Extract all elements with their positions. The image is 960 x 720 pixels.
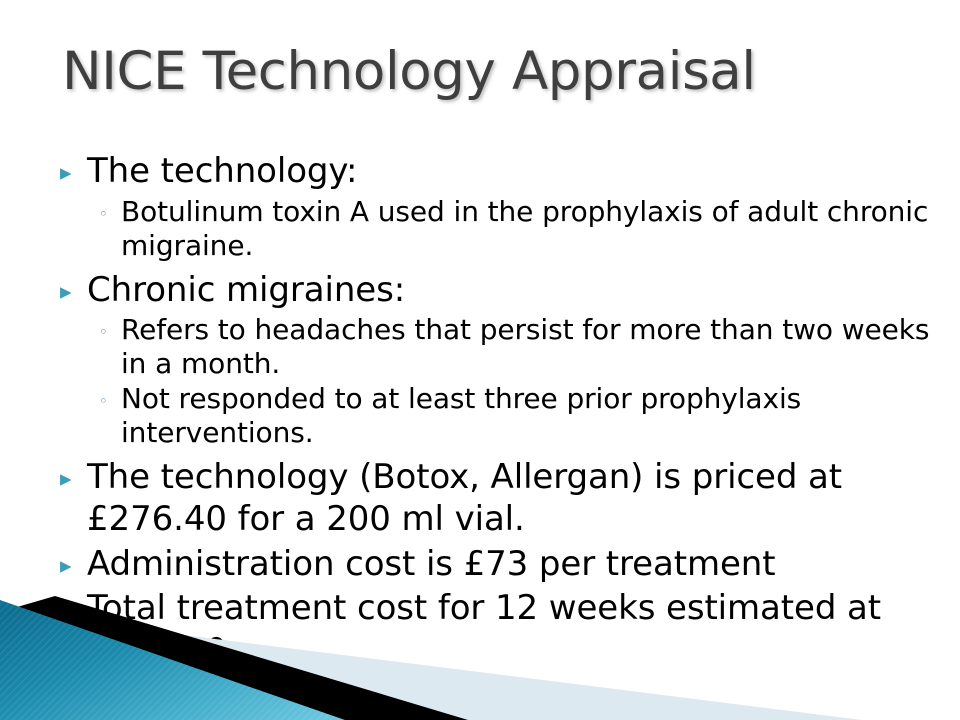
bullet-text: Total treatment cost for 12 weeks estima…: [87, 587, 940, 672]
slide-canvas: NICE Technology Appraisal ▸ The technolo…: [0, 0, 960, 720]
bullet-item-level1: ▸ The technology:: [60, 150, 940, 193]
bullet-text: Administration cost is £73 per treatment: [87, 543, 940, 586]
content-placeholder: ▸ The technology: ◦ Botulinum toxin A us…: [60, 150, 940, 674]
bullet-text: Not responded to at least three prior pr…: [121, 382, 940, 450]
bullet-text: The technology:: [87, 150, 940, 193]
bullet-item-level1: ▸ Administration cost is £73 per treatme…: [60, 543, 940, 586]
page-title: NICE Technology Appraisal: [62, 44, 922, 100]
bullet-item-level2: ◦ Not responded to at least three prior …: [99, 382, 940, 450]
bullet-text: Botulinum toxin A used in the prophylaxi…: [121, 195, 940, 263]
triangle-bullet-icon: ▸: [60, 150, 87, 185]
bullet-text: Refers to headaches that persist for mor…: [121, 313, 940, 381]
hollow-circle-bullet-icon: ◦: [99, 313, 121, 340]
bullet-item-level2: ◦ Botulinum toxin A used in the prophyla…: [99, 195, 940, 263]
bullet-item-level1: ▸ Total treatment cost for 12 weeks esti…: [60, 587, 940, 672]
triangle-bullet-icon: ▸: [60, 587, 87, 622]
bullet-text: Chronic migraines:: [87, 269, 940, 312]
triangle-bullet-icon: ▸: [60, 456, 87, 491]
triangle-bullet-icon: ▸: [60, 543, 87, 578]
bullet-item-level2: ◦ Refers to headaches that persist for m…: [99, 313, 940, 381]
hollow-circle-bullet-icon: ◦: [99, 382, 121, 409]
bullet-item-level1: ▸ The technology (Botox, Allergan) is pr…: [60, 456, 940, 541]
triangle-bullet-icon: ▸: [60, 269, 87, 304]
bullet-item-level1: ▸ Chronic migraines:: [60, 269, 940, 312]
hollow-circle-bullet-icon: ◦: [99, 195, 121, 222]
bullet-text: The technology (Botox, Allergan) is pric…: [87, 456, 940, 541]
